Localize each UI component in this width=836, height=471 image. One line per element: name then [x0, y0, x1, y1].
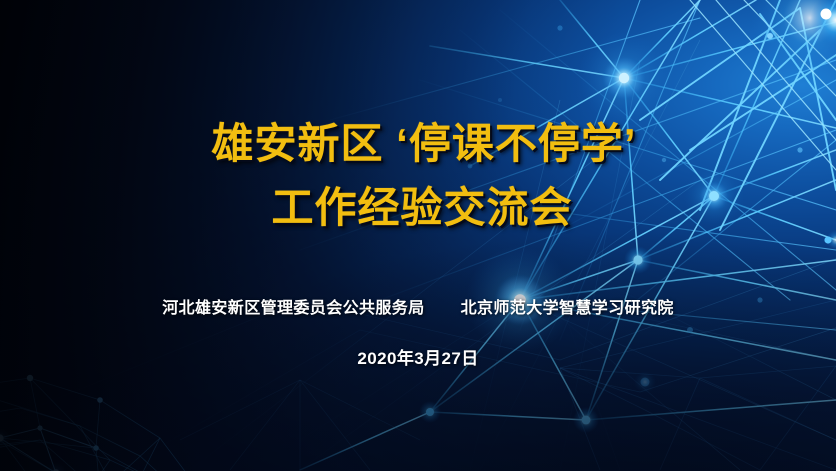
- event-date: 2020年3月27日: [0, 344, 836, 369]
- title-block: 雄安新区 ‘停课不停学’ 工作经验交流会: [0, 112, 836, 240]
- title-line-1: 雄安新区 ‘停课不停学’: [0, 112, 836, 176]
- title-line-2: 工作经验交流会: [0, 176, 836, 240]
- organizations-line: 河北雄安新区管理委员会公共服务局北京师范大学智慧学习研究院: [0, 294, 836, 318]
- organization-right: 北京师范大学智慧学习研究院: [461, 300, 674, 317]
- slide-content: 雄安新区 ‘停课不停学’ 工作经验交流会 河北雄安新区管理委员会公共服务局北京师…: [0, 0, 836, 471]
- organization-left: 河北雄安新区管理委员会公共服务局: [162, 300, 424, 317]
- title-slide: 雄安新区 ‘停课不停学’ 工作经验交流会 河北雄安新区管理委员会公共服务局北京师…: [0, 0, 836, 471]
